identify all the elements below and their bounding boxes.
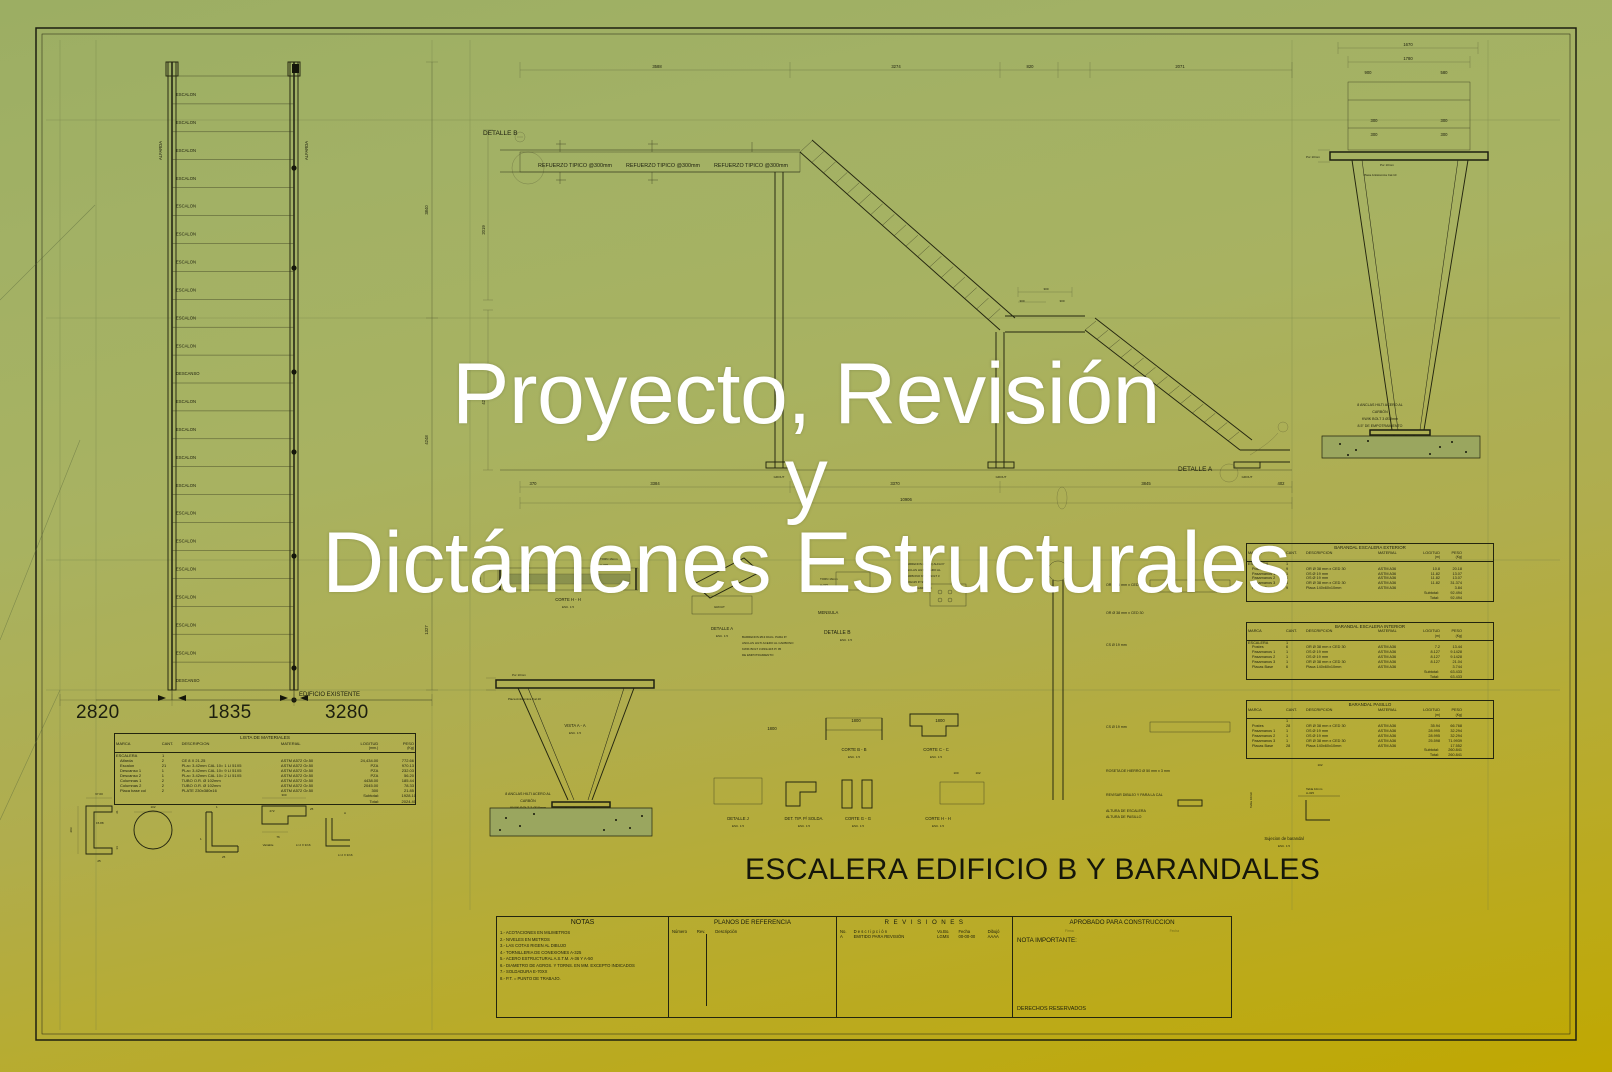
reference-plans-heading: PLANOS DE REFERENCIA xyxy=(672,919,833,926)
svg-text:3370: 3370 xyxy=(890,481,900,486)
svg-text:ESC. 1:5: ESC. 1:5 xyxy=(852,824,864,828)
column-header: Número xyxy=(672,929,687,934)
svg-text:2019: 2019 xyxy=(481,225,486,235)
table-header-row: MARCACANT.DESCRIPCIONMATERIALLOGITUD(m)P… xyxy=(1247,629,1493,640)
svg-text:GROUT: GROUT xyxy=(774,475,785,479)
svg-text:ANCLAS HILTI ACERO AL: ANCLAS HILTI ACERO AL xyxy=(905,568,941,572)
table-cell: 9 xyxy=(1285,586,1305,591)
svg-text:4248: 4248 xyxy=(424,435,429,445)
svg-text:ESCALON: ESCALON xyxy=(176,539,196,544)
column-header: PESO(Kg) xyxy=(379,741,415,751)
svg-text:DETALLE J: DETALLE J xyxy=(727,816,749,821)
table-total-row: Total:260.841 xyxy=(1247,753,1463,758)
reinforcement-note-3: REFUERZO TIPICO @300mm xyxy=(714,163,788,169)
svg-text:DE EMPOTRAMIENTO: DE EMPOTRAMIENTO xyxy=(742,653,774,657)
column-header: DESCRIPCION xyxy=(1305,708,1377,717)
svg-text:CARBÓN: CARBÓN xyxy=(520,798,536,803)
table-cell: 00-00-00 xyxy=(959,934,988,939)
svg-text:CORTE G - G: CORTE G - G xyxy=(845,816,871,821)
svg-text:DESCANSO: DESCANSO xyxy=(176,678,200,683)
svg-text:Por 10mm: Por 10mm xyxy=(1306,155,1320,159)
column-header: Descripción xyxy=(715,929,737,934)
svg-text:300: 300 xyxy=(1043,287,1048,291)
schedule-title: BARANDAL ESCALERA INTERIOR xyxy=(1247,623,1493,630)
column-header: MATERIAL xyxy=(1377,708,1419,717)
notes-panel: NOTAS1.- ACOTACIONES EN MILIMETROS2.- NI… xyxy=(497,917,669,1017)
svg-text:ESCALON: ESCALON xyxy=(176,511,196,516)
drawing-sheet: ESCALONESCALONESCALONESCALONESCALONESCAL… xyxy=(0,0,1612,1072)
column-header: MARCA xyxy=(1247,629,1285,638)
table-cell: EMITIDO PARA REVISIÓN xyxy=(854,934,938,939)
svg-text:4248: 4248 xyxy=(481,395,486,405)
svg-text:ESC. 1:5: ESC. 1:5 xyxy=(569,731,581,735)
column-header: MATERIAL xyxy=(280,741,342,751)
svg-text:ESC. 1:5: ESC. 1:5 xyxy=(798,824,810,828)
svg-text:LI 2 X 3/16: LI 2 X 3/16 xyxy=(338,853,353,857)
svg-text:ESC. 1:5: ESC. 1:5 xyxy=(840,638,852,642)
svg-text:Ø19x115 P/ 95 DE: Ø19x115 P/ 95 DE xyxy=(905,580,930,584)
svg-text:ESCALON: ESCALON xyxy=(176,315,196,320)
dimension-1835: 1835 xyxy=(208,702,251,724)
svg-text:DET. TIP. P/ SOLDA.: DET. TIP. P/ SOLDA. xyxy=(785,816,824,821)
table-cell: Placa 140x60x10mm xyxy=(1305,744,1377,749)
table-total-row: Total:92.494 xyxy=(1247,596,1463,601)
table-cell: Placa base col xyxy=(115,788,161,793)
svg-text:CARBONO KWIK BOLT 3: CARBONO KWIK BOLT 3 xyxy=(905,574,940,578)
table-cell: Placa 140x60x10mm xyxy=(1305,665,1377,670)
important-note-label: NOTA IMPORTANTE: xyxy=(1017,937,1227,944)
svg-text:1670: 1670 xyxy=(1403,42,1413,47)
schedule-title: LISTA DE MATERIALES xyxy=(115,734,415,741)
svg-text:VISTA A - A: VISTA A - A xyxy=(564,723,586,728)
blueprint-slide: ESCALONESCALONESCALONESCALONESCALONESCAL… xyxy=(0,0,1612,1072)
schedule-table: BARANDAL ESCALERA INTERIORMARCACANT.DESC… xyxy=(1246,622,1494,681)
svg-text:102: 102 xyxy=(975,771,980,775)
svg-text:2071: 2071 xyxy=(1175,64,1185,69)
svg-text:ESCALON: ESCALON xyxy=(176,148,196,153)
svg-text:300: 300 xyxy=(1441,118,1449,123)
svg-text:1327: 1327 xyxy=(424,625,429,635)
svg-text:67.00: 67.00 xyxy=(95,792,103,796)
svg-text:25: 25 xyxy=(222,855,226,859)
svg-text:1780: 1780 xyxy=(1403,56,1413,61)
table-cell: Placas Base xyxy=(1247,744,1285,749)
svg-text:REVISAR DIBUJO Y PARA LA CAL: REVISAR DIBUJO Y PARA LA CAL xyxy=(1106,793,1163,797)
svg-text:300: 300 xyxy=(1019,299,1024,303)
schedule-table: LISTA DE MATERIALESMARCACANT.DESCRIPCION… xyxy=(114,733,416,805)
svg-text:ESCALON: ESCALON xyxy=(176,483,196,488)
svg-text:KWIK BOLT 3 Ø19x115 P/ 95: KWIK BOLT 3 Ø19x115 P/ 95 xyxy=(742,647,782,651)
svg-text:Sujecion de barandal: Sujecion de barandal xyxy=(1264,836,1303,841)
svg-text:102: 102 xyxy=(150,805,155,809)
svg-text:Tabla 10mm: Tabla 10mm xyxy=(1249,791,1253,808)
svg-text:8 ANCLAS HILTI ACERO AL: 8 ANCLAS HILTI ACERO AL xyxy=(1357,403,1402,407)
svg-text:402: 402 xyxy=(1278,481,1286,486)
svg-text:ESCALON: ESCALON xyxy=(176,622,196,627)
revisions-panel: R E V I S I O N E SNo.D e s c r i p c i … xyxy=(837,917,1013,1017)
svg-text:A-325: A-325 xyxy=(820,583,828,587)
svg-text:Placa Antisismica Cal.10: Placa Antisismica Cal.10 xyxy=(1364,173,1397,177)
svg-text:ESCALON: ESCALON xyxy=(176,288,196,293)
svg-text:900: 900 xyxy=(1365,70,1373,75)
svg-text:Variable: Variable xyxy=(263,843,274,847)
reinforcement-note-1: REFUERZO TIPICO @300mm xyxy=(538,163,612,169)
table-total-row: Total:63.433 xyxy=(1247,675,1463,680)
svg-text:ESCALON: ESCALON xyxy=(176,567,196,572)
svg-text:ESCALON: ESCALON xyxy=(176,399,196,404)
svg-text:MENSULA: MENSULA xyxy=(818,610,838,615)
svg-text:CORTE H - H: CORTE H - H xyxy=(555,597,581,602)
column-header: MARCA xyxy=(115,741,161,751)
table-header-row: MARCACANT.DESCRIPCIONMATERIALLOGITUD(mm.… xyxy=(115,741,415,753)
table-cell: AAAA xyxy=(988,934,1009,939)
svg-text:A-325: A-325 xyxy=(1306,791,1314,795)
svg-text:CORTE H - H: CORTE H - H xyxy=(925,816,951,821)
detail-callout-b: DETALLE B xyxy=(483,130,518,137)
table-cell: A xyxy=(840,934,854,939)
svg-text:ALFARDA: ALFARDA xyxy=(304,141,309,160)
svg-text:ESC. 1:5: ESC. 1:5 xyxy=(930,755,942,759)
svg-text:3274: 3274 xyxy=(891,64,901,69)
svg-text:ANCLAS HILTI ACERO AL CARBONO: ANCLAS HILTI ACERO AL CARBONO xyxy=(742,641,794,645)
svg-text:300: 300 xyxy=(1059,299,1064,303)
svg-text:KWIK BOLT 3 Ø19mm: KWIK BOLT 3 Ø19mm xyxy=(1362,417,1398,421)
svg-text:BARRENOS Ø13 (2) ALFA P/: BARRENOS Ø13 (2) ALFA P/ xyxy=(905,562,945,566)
svg-text:820: 820 xyxy=(1027,64,1035,69)
table-cell: ASTM A36 xyxy=(1377,665,1419,670)
svg-text:CS Ø 19 mm: CS Ø 19 mm xyxy=(1106,643,1127,647)
svg-text:8.5" DE EMPOTRAMIENTO: 8.5" DE EMPOTRAMIENTO xyxy=(1358,424,1403,428)
detail-callout-a: DETALLE A xyxy=(1178,466,1212,473)
svg-text:370: 370 xyxy=(530,481,538,486)
svg-text:TORN 16mm: TORN 16mm xyxy=(600,557,618,561)
svg-text:OR Ø 38 mm x CED 30: OR Ø 38 mm x CED 30 xyxy=(1106,583,1144,587)
svg-text:GROUT: GROUT xyxy=(714,605,725,609)
svg-text:A: A xyxy=(344,811,346,815)
revisions-heading: R E V I S I O N E S xyxy=(840,919,1009,926)
notes-heading: NOTAS xyxy=(500,919,665,926)
schedule-title: BARANDAL ESCALERA EXTERIOR xyxy=(1247,544,1493,551)
dimension-2820: 2820 xyxy=(76,702,119,724)
svg-text:203: 203 xyxy=(69,827,73,832)
column-header: LOGITUD(mm.) xyxy=(342,741,380,751)
svg-text:ESCALON: ESCALON xyxy=(176,595,196,600)
svg-text:272: 272 xyxy=(269,809,274,813)
svg-text:10906: 10906 xyxy=(900,497,912,502)
svg-text:100: 100 xyxy=(478,577,482,582)
svg-text:300: 300 xyxy=(1441,132,1449,137)
schedule-title: BARANDAL PASILLO xyxy=(1247,701,1493,708)
svg-text:GROUT: GROUT xyxy=(996,475,1007,479)
column-header: Rev. xyxy=(697,929,705,934)
column-header: MATERIAL xyxy=(1377,629,1419,638)
svg-text:102: 102 xyxy=(1317,763,1322,767)
svg-text:1800: 1800 xyxy=(851,718,861,723)
svg-text:76: 76 xyxy=(276,835,280,839)
svg-text:ESCALON: ESCALON xyxy=(176,120,196,125)
materials-list-table: LISTA DE MATERIALESMARCACANT.DESCRIPCION… xyxy=(114,733,416,805)
svg-text:3588: 3588 xyxy=(652,64,662,69)
svg-text:A-325: A-325 xyxy=(600,563,608,567)
reference-plans-panel: PLANOS DE REFERENCIANúmeroRev.Descripció… xyxy=(669,917,837,1017)
table-total-row: Total:2024.40 xyxy=(115,799,417,804)
svg-text:CARBÓN: CARBÓN xyxy=(1372,409,1388,414)
svg-text:DETALLE B: DETALLE B xyxy=(824,630,851,636)
table-cell: LGMS xyxy=(937,934,958,939)
svg-text:BARRENOS Ø13 DIAG. PARA P/: BARRENOS Ø13 DIAG. PARA P/ xyxy=(742,635,787,639)
svg-text:ESC. 1:5: ESC. 1:5 xyxy=(716,634,728,638)
column-header: DESCRIPCION xyxy=(1305,629,1377,638)
svg-text:ALFARDA: ALFARDA xyxy=(158,141,163,160)
svg-text:25: 25 xyxy=(310,807,314,811)
svg-text:GROUT: GROUT xyxy=(1242,475,1253,479)
table-row: AEMITIDO PARA REVISIÓNLGMS00-00-00AAAA xyxy=(840,934,1009,939)
table-header-row: MARCACANT.DESCRIPCIONMATERIALLOGITUD(m)P… xyxy=(1247,708,1493,719)
column-header: CANT. xyxy=(1285,551,1305,560)
svg-text:ALTURA DE PASILLO: ALTURA DE PASILLO xyxy=(1106,815,1142,819)
rail-schedules: BARANDAL ESCALERA EXTERIORMARCACANT.DESC… xyxy=(1246,543,1494,759)
svg-text:300: 300 xyxy=(1371,132,1379,137)
schedule-table: BARANDAL ESCALERA EXTERIORMARCACANT.DESC… xyxy=(1246,543,1494,602)
svg-text:ESC. 1:5: ESC. 1:5 xyxy=(562,605,574,609)
svg-text:100: 100 xyxy=(953,771,958,775)
svg-text:580: 580 xyxy=(1441,70,1449,75)
column-header: LOGITUD(m) xyxy=(1419,551,1441,560)
table-cell: Placas Base xyxy=(1247,586,1285,591)
svg-text:EMPOTRAMIENTO: EMPOTRAMIENTO xyxy=(905,586,932,590)
table-cell: ASTM A36 xyxy=(1377,586,1419,591)
svg-text:ESCALON: ESCALON xyxy=(176,92,196,97)
svg-text:21: 21 xyxy=(115,810,119,814)
column-header: PESO(Kg) xyxy=(1441,629,1463,638)
table-cell: 2 xyxy=(161,788,181,793)
sheet-title: ESCALERA EDIFICIO B Y BARANDALES xyxy=(745,853,1435,887)
rights-reserved: DERECHOS RESERVADOS xyxy=(1017,1006,1086,1012)
svg-text:ESC. 1:5: ESC. 1:5 xyxy=(732,824,744,828)
svg-text:ESCALON: ESCALON xyxy=(176,260,196,265)
svg-text:LI 2 X 3/16: LI 2 X 3/16 xyxy=(296,843,311,847)
column-header: CANT. xyxy=(1285,708,1305,717)
svg-text:CORTE C - C: CORTE C - C xyxy=(923,747,949,752)
svg-text:TORN 16mm: TORN 16mm xyxy=(820,577,838,581)
table-cell: 6 xyxy=(1285,665,1305,670)
svg-text:ESC. 1:5: ESC. 1:5 xyxy=(1278,844,1290,848)
title-block: NOTAS1.- ACOTACIONES EN MILIMETROS2.- NI… xyxy=(496,916,1232,1018)
table-cell: ASTM A36 xyxy=(1377,744,1419,749)
reinforcement-note-2: REFUERZO TIPICO @300mm xyxy=(626,163,700,169)
svg-text:CS Ø 19 mm: CS Ø 19 mm xyxy=(1106,725,1127,729)
svg-text:DESCANSO: DESCANSO xyxy=(176,371,200,376)
svg-text:ROSETA DE HIERRO Ø 50 mm x 3 m: ROSETA DE HIERRO Ø 50 mm x 3 mm xyxy=(1106,769,1170,773)
column-header: MATERIAL xyxy=(1377,551,1419,560)
svg-text:ESCALON: ESCALON xyxy=(176,204,196,209)
approval-heading: APROBADO PARA CONSTRUCCION xyxy=(1017,919,1227,926)
note-item: 8.- P.T. = PUNTO DE TRABAJO. xyxy=(500,976,665,983)
svg-text:8 ANCLAS HILTI ACERO AL: 8 ANCLAS HILTI ACERO AL xyxy=(505,792,550,796)
svg-text:1: 1 xyxy=(216,805,218,809)
svg-text:3384: 3384 xyxy=(650,481,660,486)
svg-text:ESCALON: ESCALON xyxy=(176,176,196,181)
svg-text:ESC. 1:5: ESC. 1:5 xyxy=(932,824,944,828)
svg-text:ESCALON: ESCALON xyxy=(176,232,196,237)
dimension-3280: 3280 xyxy=(325,702,368,724)
svg-text:Por 10mm: Por 10mm xyxy=(1380,163,1394,167)
table-cell: PLATE 230x380x16 xyxy=(181,788,280,793)
svg-text:25: 25 xyxy=(97,859,101,863)
column-header: DESCRIPCION xyxy=(1305,551,1377,560)
svg-text:ESCALON: ESCALON xyxy=(176,455,196,460)
column-header: DESCRIPCION xyxy=(181,741,280,751)
approval-panel: APROBADO PARA CONSTRUCCIONFirmaFechaNOTA… xyxy=(1013,917,1231,1017)
svg-text:1: 1 xyxy=(200,837,202,841)
svg-text:1800: 1800 xyxy=(935,718,945,723)
existing-building-label: EDIFICIO EXISTENTE xyxy=(299,692,360,698)
column-header: PESO(Kg) xyxy=(1441,708,1463,717)
column-header: MARCA xyxy=(1247,551,1285,560)
svg-text:15.88: 15.88 xyxy=(96,821,104,825)
svg-text:DETALLE A: DETALLE A xyxy=(711,626,733,631)
column-header: CANT. xyxy=(161,741,181,751)
table-header-row: MARCACANT.DESCRIPCIONMATERIALLOGITUD(m)P… xyxy=(1247,551,1493,562)
svg-text:CORTE B - B: CORTE B - B xyxy=(841,747,866,752)
column-header: LOGITUD(m) xyxy=(1419,708,1441,717)
schedule-table: BARANDAL PASILLOMARCACANT.DESCRIPCIONMAT… xyxy=(1246,700,1494,759)
svg-text:ESCALON: ESCALON xyxy=(176,650,196,655)
svg-text:Por 10mm: Por 10mm xyxy=(512,673,526,677)
table-cell: Placa 140x60x10mm xyxy=(1305,586,1377,591)
svg-text:Placa Antisismica Cal.10: Placa Antisismica Cal.10 xyxy=(508,697,541,701)
svg-text:ESC. 1:5: ESC. 1:5 xyxy=(848,755,860,759)
table-cell: ASTM A572 Gr.50 xyxy=(280,788,342,793)
svg-text:300: 300 xyxy=(1371,118,1379,123)
svg-text:1800: 1800 xyxy=(767,726,777,731)
svg-text:3840: 3840 xyxy=(424,205,429,215)
svg-text:OR Ø 38 mm x CED 30: OR Ø 38 mm x CED 30 xyxy=(1106,611,1144,615)
table-cell: 28 xyxy=(1285,744,1305,749)
column-header: CANT. xyxy=(1285,629,1305,638)
table-cell: Placas Base xyxy=(1247,665,1285,670)
column-header: MARCA xyxy=(1247,708,1285,717)
svg-text:ESCALON: ESCALON xyxy=(176,427,196,432)
column-header: PESO(Kg) xyxy=(1441,551,1463,560)
column-header: LOGITUD(m) xyxy=(1419,629,1441,638)
svg-text:3845: 3845 xyxy=(1141,481,1151,486)
svg-text:ESCALON: ESCALON xyxy=(176,343,196,348)
svg-text:ALTURA DE ESCALERA: ALTURA DE ESCALERA xyxy=(1106,809,1146,813)
svg-text:14: 14 xyxy=(115,846,119,850)
